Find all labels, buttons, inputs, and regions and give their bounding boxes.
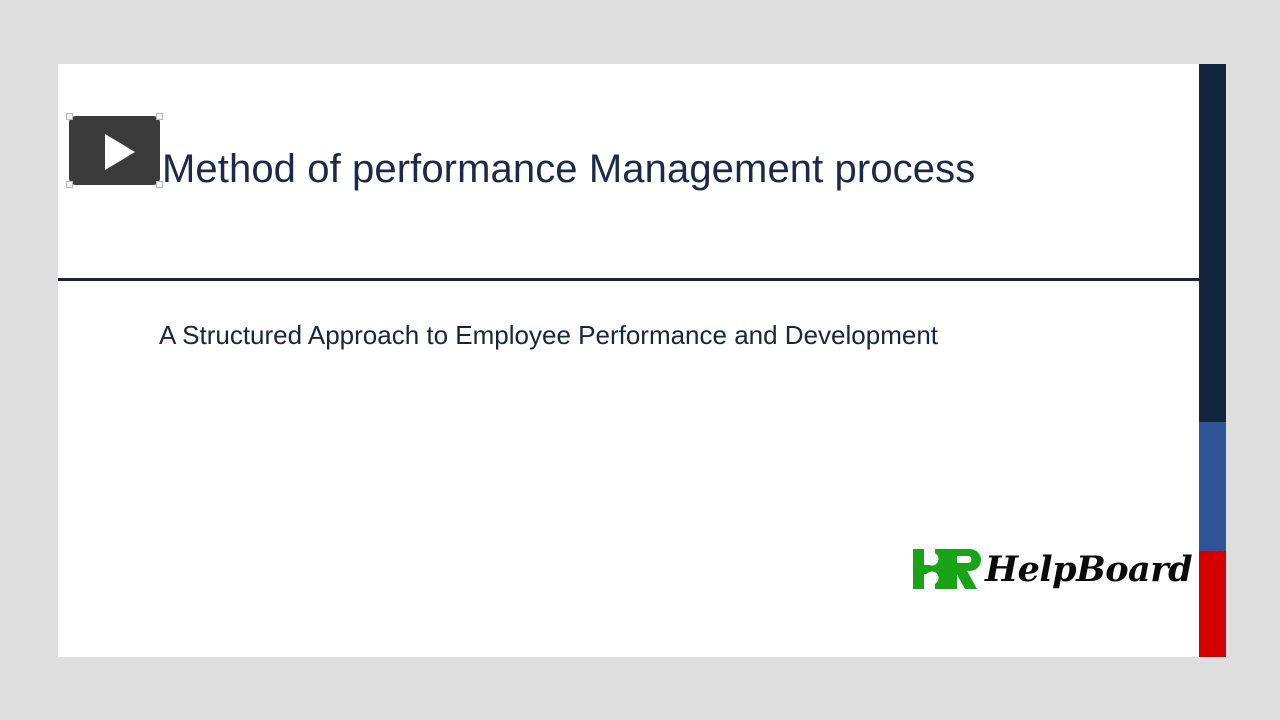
title-divider [58, 278, 1199, 281]
selection-handle-top-left[interactable] [66, 113, 73, 120]
accent-bar-red [1199, 551, 1226, 657]
accent-bar-blue [1199, 422, 1226, 551]
embedded-video-object[interactable] [66, 113, 163, 188]
slide-subtitle: A Structured Approach to Employee Perfor… [159, 318, 1159, 352]
hr-monogram-icon [913, 547, 987, 591]
accent-bar-navy [1199, 64, 1226, 422]
selection-handle-bottom-right[interactable] [156, 181, 163, 188]
play-icon[interactable] [105, 134, 135, 170]
selection-handle-top-right[interactable] [156, 113, 163, 120]
video-frame[interactable] [69, 116, 160, 185]
slide-title: Method of performance Management process [162, 145, 1182, 193]
logo-wordmark: HelpBoard [985, 549, 1192, 591]
helpboard-logo: HelpBoard [913, 547, 1153, 595]
selection-handle-bottom-left[interactable] [66, 181, 73, 188]
slide-canvas: Method of performance Management process… [58, 64, 1226, 657]
